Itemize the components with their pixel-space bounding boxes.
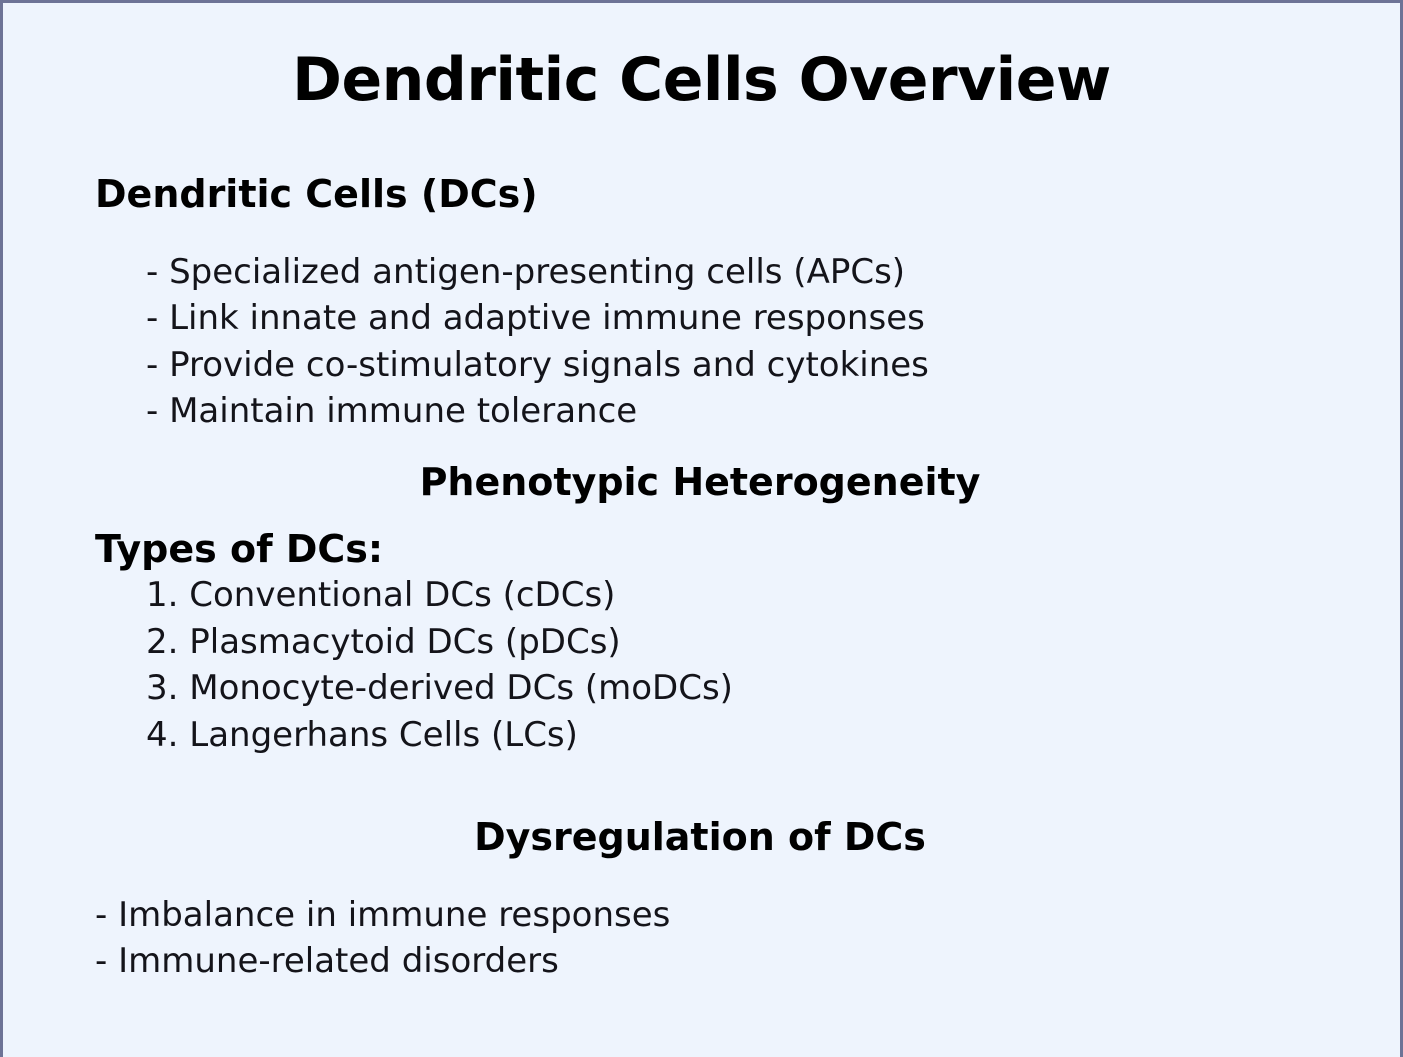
spacer (95, 504, 1305, 528)
spacer (95, 860, 1305, 892)
list-item: - Immune-related disorders (95, 938, 1305, 985)
section-dendritic-cells: Dendritic Cells (DCs) - Specialized anti… (95, 173, 1305, 435)
page-title: Dendritic Cells Overview (3, 49, 1400, 112)
section-heading-phenotypic-heterogeneity: Phenotypic Heterogeneity (95, 461, 1305, 505)
list-item: - Provide co-stimulatory signals and cyt… (146, 342, 1305, 389)
list-item: - Link innate and adaptive immune respon… (146, 295, 1305, 342)
bullet-list-dysregulation: - Imbalance in immune responses - Immune… (95, 892, 1305, 985)
subheading-types-of-dcs: Types of DCs: (95, 528, 1305, 572)
slide-content: Dendritic Cells (DCs) - Specialized anti… (95, 173, 1305, 985)
list-item: - Specialized antigen-presenting cells (… (146, 249, 1305, 296)
spacer (95, 217, 1305, 249)
slide-canvas: Dendritic Cells Overview Dendritic Cells… (0, 0, 1403, 1057)
section-phenotypic-heterogeneity: Phenotypic Heterogeneity Types of DCs: 1… (95, 461, 1305, 758)
section-dysregulation-of-dcs: Dysregulation of DCs - Imbalance in immu… (95, 816, 1305, 985)
list-item: - Imbalance in immune responses (95, 892, 1305, 939)
section-heading-dendritic-cells: Dendritic Cells (DCs) (95, 173, 1305, 217)
list-item: 4. Langerhans Cells (LCs) (146, 712, 1305, 759)
list-item: 2. Plasmacytoid DCs (pDCs) (146, 619, 1305, 666)
spacer (95, 435, 1305, 461)
spacer (95, 758, 1305, 816)
bullet-list-dendritic-cells: - Specialized antigen-presenting cells (… (95, 249, 1305, 435)
list-item: - Maintain immune tolerance (146, 388, 1305, 435)
section-heading-dysregulation-of-dcs: Dysregulation of DCs (95, 816, 1305, 860)
list-item: 1. Conventional DCs (cDCs) (146, 572, 1305, 619)
list-item: 3. Monocyte-derived DCs (moDCs) (146, 665, 1305, 712)
numbered-list-dc-types: 1. Conventional DCs (cDCs) 2. Plasmacyto… (95, 572, 1305, 758)
